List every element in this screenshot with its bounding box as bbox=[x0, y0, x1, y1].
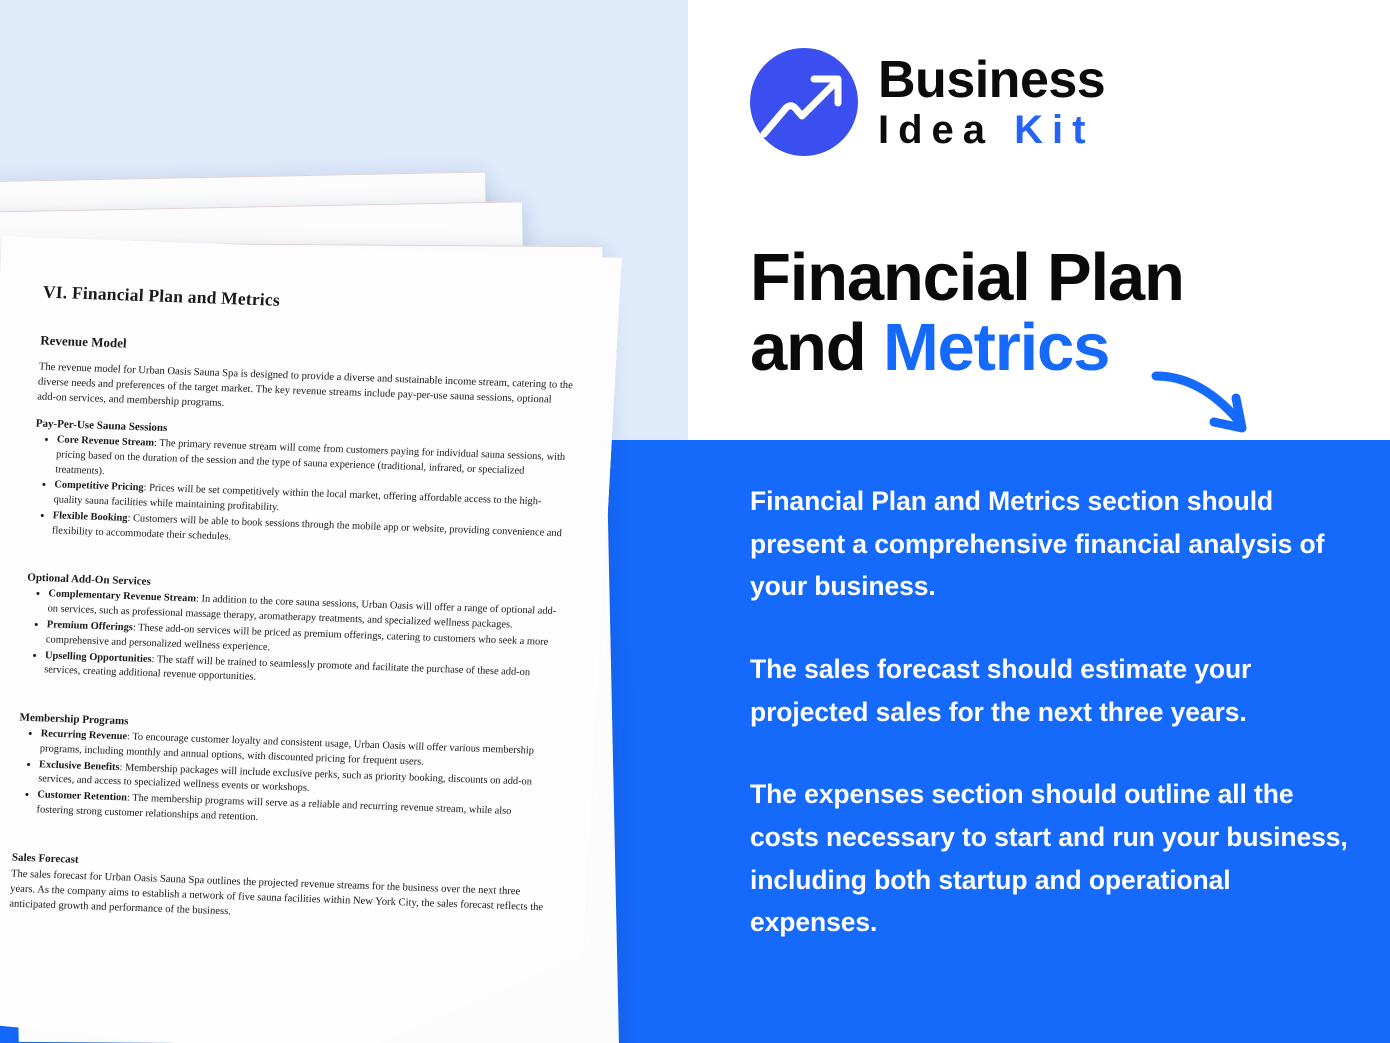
headline-metrics: Metrics bbox=[883, 310, 1109, 385]
bullet-term: Flexible Booking bbox=[52, 510, 127, 524]
document-intro-paragraph: The revenue model for Urban Oasis Sauna … bbox=[37, 360, 573, 424]
document-page-stack: VI. Financial Plan and Metrics Revenue M… bbox=[0, 150, 740, 1030]
page-top-edge bbox=[0, 172, 485, 183]
headline-and: and bbox=[750, 310, 883, 385]
document-title: VI. Financial Plan and Metrics bbox=[42, 282, 577, 322]
body-paragraph-1: Financial Plan and Metrics section shoul… bbox=[750, 480, 1350, 608]
brand-name-line1: Business bbox=[878, 54, 1105, 106]
bullet-term: Upselling Opportunities bbox=[45, 650, 152, 665]
bullet-term: Customer Retention bbox=[37, 789, 127, 803]
bullet-term: Competitive Pricing bbox=[54, 480, 144, 494]
brand-kit: Kit bbox=[1014, 108, 1094, 152]
growth-chart-circle-icon bbox=[748, 46, 860, 158]
document-page-front: VI. Financial Plan and Metrics Revenue M… bbox=[0, 236, 622, 1043]
document-bullet-list-0: Core Revenue Stream: The primary revenue… bbox=[29, 433, 569, 557]
brand-name-line2: Idea Kit bbox=[878, 110, 1105, 150]
brand-logo: Business Idea Kit bbox=[748, 46, 1105, 158]
document-front-content: VI. Financial Plan and Metrics Revenue M… bbox=[0, 236, 622, 1043]
brand-idea: Idea bbox=[878, 108, 994, 152]
curved-down-right-arrow-icon bbox=[1148, 358, 1278, 448]
body-paragraph-3: The expenses section should outline all … bbox=[750, 773, 1350, 944]
brand-wordmark: Business Idea Kit bbox=[878, 54, 1105, 150]
document-bullet-list-2: Recurring Revenue: To encourage customer… bbox=[14, 727, 553, 836]
slide-canvas: VI. Financial Plan and Metrics Revenue M… bbox=[0, 0, 1390, 1043]
bullet-term: Core Revenue Stream bbox=[57, 434, 155, 448]
bullet-term: Complementary Revenue Stream bbox=[48, 589, 196, 605]
body-copy: Financial Plan and Metrics section shoul… bbox=[750, 480, 1350, 944]
document-bullet-list-1: Complementary Revenue Stream: In additio… bbox=[22, 587, 561, 696]
bullet-term: Exclusive Benefits bbox=[39, 759, 120, 773]
bullet-term: Recurring Revenue bbox=[40, 728, 127, 742]
body-paragraph-2: The sales forecast should estimate your … bbox=[750, 648, 1350, 733]
headline-line-1: Financial Plan bbox=[750, 243, 1350, 313]
bullet-term: Premium Offerings bbox=[46, 619, 133, 633]
